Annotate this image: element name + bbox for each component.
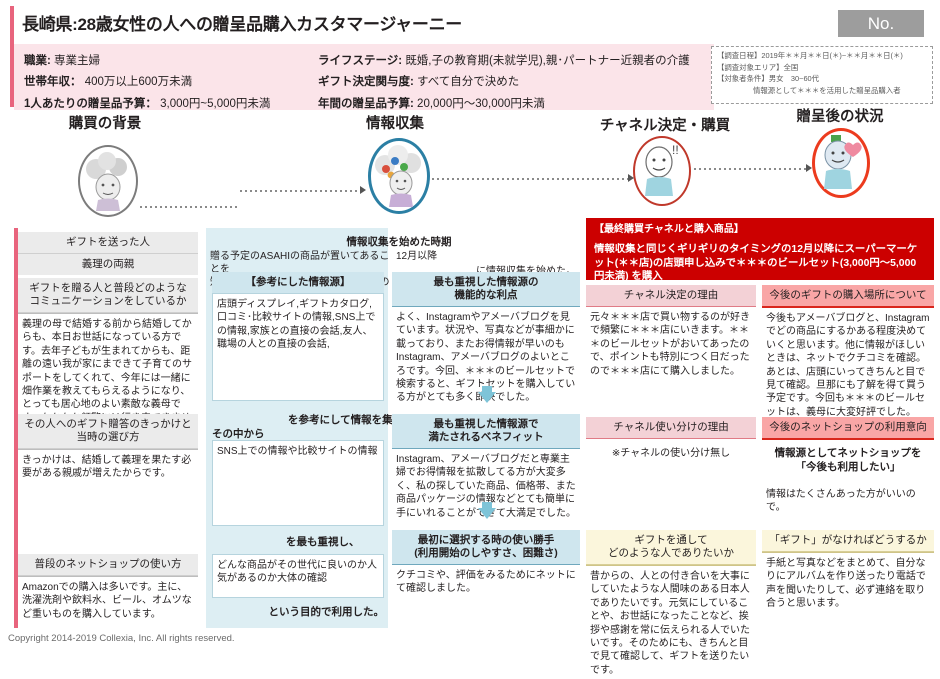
meta-income-label: 世帯年収： <box>24 76 82 88</box>
footer-copyright: Copyright 2014-2019 Collexia, Inc. All r… <box>8 633 235 644</box>
meta-income-value: 400万以上600万未満 <box>85 76 192 88</box>
channel-reason-header: チャネル決定の理由 <box>586 285 756 306</box>
flow-arrow-down-1 <box>478 392 496 403</box>
usability-header: 最初に選択する時の使い勝手 (利用開始のしやすさ、困難さ) <box>392 530 580 564</box>
channel-reason-body: 元々＊＊＊店で買い物するのが好きで頻繁に＊＊＊店にいきます。＊＊＊のビールセット… <box>586 306 756 380</box>
gift-persona-body: 昔からの、人との付き合いを大事にしていたような人間味のある日本人でありたいです。… <box>586 565 756 679</box>
no-gift-card: 「ギフト」がなければどうするか 手紙と写真などをまとめて、自分なりにアルバムを作… <box>762 530 934 613</box>
channel-usage-body: ※チャネルの使い分け無し <box>586 438 756 462</box>
person-thinking-icon <box>78 145 138 217</box>
collect-midfix: その中から <box>212 426 265 441</box>
meta-annual-budget-value: 20,000円～30,000円未満 <box>417 98 545 110</box>
header: 長崎県:28歳女性の人への贈呈品購入カスタマージャーニー No. 職業: 専業主… <box>0 6 940 107</box>
purpose-value: どんな商品がその世代に良いのか人気があるのか大体の確認 <box>212 554 384 598</box>
channel-usage-header: チャネル使い分けの理由 <box>586 417 756 438</box>
meta-involvement: ギフト決定関与度: すべて自分で決めた <box>318 73 519 89</box>
stage-label-research: 情報収集 <box>330 112 460 133</box>
final-purchase-title: 【最終購買チャネルと購入商品】 <box>594 223 926 236</box>
stage-label-after-gift: 贈呈後の状況 <box>775 105 905 126</box>
gift-persona-header: ギフトを通して どのような人でありたいか <box>586 530 756 565</box>
trigger-body: きっかけは、結婚して義理を果たす必要がある親戚が増えたからです。 <box>18 449 198 483</box>
meta-occupation: 職業: 専業主婦 <box>24 52 100 68</box>
netshop-usage-header: 普段のネットショップの使い方 <box>18 554 198 576</box>
trigger-header: その人へのギフト贈答のきっかけと 当時の選び方 <box>18 414 198 449</box>
journey-arrow-3 <box>806 164 812 172</box>
netshop-intent-body: 情報はたくさんあった方がいいので。 <box>762 476 934 517</box>
timing-value: 12月以降 <box>396 250 437 263</box>
emotional-benefit-header: 最も重視した情報源で 満たされるベネフィット <box>392 414 580 448</box>
netshop-intent-card: 今後のネットショップの利用意向 情報源としてネットショップを 「今後も利用したい… <box>762 417 934 517</box>
meta-lifestage-label: ライフステージ: <box>318 55 402 67</box>
meta-occupation-label: 職業: <box>24 55 51 67</box>
channel-usage-card: チャネル使い分けの理由 ※チャネルの使い分け無し <box>586 417 756 462</box>
recipient-value: 義理の両親 <box>18 254 198 275</box>
final-purchase-body: 情報収集と同じくギリギリのタイミングの12月以降にスーパーマーケット(＊＊店)の… <box>594 243 926 284</box>
info-sources-card: 【参考にした情報源】 店頭ディスプレイ,ギフトカタログ,口コミ･比較サイトの情報… <box>212 272 384 401</box>
survey-date: 【調査日程】2019年＊＊月＊＊日(＊)~＊＊月＊＊日(＊) <box>717 50 927 62</box>
svg-text:!!: !! <box>672 143 679 157</box>
customer-journey-page: 長崎県:28歳女性の人への贈呈品購入カスタマージャーニー No. 職業: 専業主… <box>0 0 940 651</box>
meta-budget-per-person-label: 1人あたりの贈呈品予算： <box>24 98 157 110</box>
meta-budget-per-person: 1人あたりの贈呈品予算： 3,000円~5,000円未満 <box>24 95 270 111</box>
timing-header: 情報収集を始めた時期 <box>314 234 484 249</box>
meta-occupation-value: 専業主婦 <box>54 55 100 67</box>
future-purchase-place-body: 今後もアメーバブログと、Instagramでどの商品にするかある程度決めていくと… <box>762 306 934 421</box>
recipient-card: ギフトを送った人 義理の両親 <box>18 232 198 275</box>
functional-benefit-header: 最も重視した情報源の 機能的な利点 <box>392 272 580 306</box>
future-purchase-place-header: 今後のギフトの購入場所について <box>762 285 934 306</box>
purpose-suffix: という目的で利用した。 <box>212 598 384 619</box>
future-purchase-place-card: 今後のギフトの購入場所について 今後もアメーバブログと、Instagramでどの… <box>762 285 934 421</box>
meta-annual-budget: 年間の贈呈品予算: 20,000円～30,000円未満 <box>318 95 545 111</box>
info-sources-header: 【参考にした情報源】 <box>212 272 384 293</box>
survey-info-box: 【調査日程】2019年＊＊月＊＊日(＊)~＊＊月＊＊日(＊) 【調査対象エリア】… <box>711 46 933 104</box>
journey-path-segment-1 <box>140 206 240 208</box>
page-title: 長崎県:28歳女性の人への贈呈品購入カスタマージャーニー <box>22 12 722 38</box>
collect-prefix: を参考にして情報を集め <box>288 412 403 427</box>
survey-area: 【調査対象エリア】全国 <box>717 62 927 74</box>
meta-lifestage: ライフステージ: 既婚,子の教育期(未就学児),親･パートナー近親者の介護 <box>318 52 690 68</box>
meta-involvement-label: ギフト決定関与度: <box>318 76 414 88</box>
usability-card: 最初に選択する時の使い勝手 (利用開始のしやすさ、困難さ) クチコミや、評価をみ… <box>392 530 580 598</box>
journey-arrow-2 <box>628 174 634 182</box>
person-decided-icon: !! <box>633 136 691 206</box>
communication-header: ギフトを贈る人と普段どのような コミュニケーションをしているか <box>18 278 198 313</box>
person-research-icon <box>368 138 430 214</box>
journey-arrow-1 <box>360 186 366 194</box>
journey-path-segment-3 <box>432 178 628 180</box>
recipient-header: ギフトを送った人 <box>18 232 198 254</box>
no-gift-header: 「ギフト」がなければどうするか <box>762 530 934 552</box>
meta-income: 世帯年収： 400万以上600万未満 <box>24 73 192 89</box>
channel-reason-card: チャネル決定の理由 元々＊＊＊店で買い物するのが好きで頻繁に＊＊＊店にいきます。… <box>586 285 756 380</box>
no-gift-body: 手紙と写真などをまとめて、自分なりにアルバムを作り送ったり電話で声を聞いたりして… <box>762 552 934 613</box>
purpose-card: どんな商品がその世代に良いのか人気があるのか大体の確認 という目的で利用した。 <box>212 554 384 619</box>
netshop-intent-value: 情報源としてネットショップを 「今後も利用したい」 <box>762 438 934 476</box>
gift-persona-card: ギフトを通して どのような人でありたいか 昔からの、人との付き合いを大事にしてい… <box>586 530 756 679</box>
netshop-intent-header: 今後のネットショップの利用意向 <box>762 417 934 438</box>
survey-condition: 【対象者条件】男女 30~60代 <box>717 73 927 85</box>
survey-condition-detail: 情報源として＊＊＊を活用した贈呈品購入者 <box>717 85 927 97</box>
page-title-row: 長崎県:28歳女性の人への贈呈品購入カスタマージャーニー <box>22 12 722 42</box>
usability-body: クチコミや、評価をみるためにネットにて確認しました。 <box>392 564 580 598</box>
selected-sources-value: SNS上での情報や比較サイトの情報 <box>212 440 384 526</box>
selected-sources-card: SNS上での情報や比較サイトの情報 <box>212 440 384 526</box>
meta-involvement-value: すべて自分で決めた <box>417 76 519 88</box>
meta-budget-per-person-value: 3,000円~5,000円未満 <box>160 98 270 110</box>
meta-annual-budget-label: 年間の贈呈品予算: <box>318 98 414 110</box>
final-purchase-banner: 【最終購買チャネルと購入商品】 情報収集と同じくギリギリのタイミングの12月以降… <box>586 218 934 280</box>
meta-lifestage-value: 既婚,子の教育期(未就学児),親･パートナー近親者の介護 <box>405 55 689 67</box>
journey-path-segment-2 <box>240 190 360 192</box>
info-sources-body: 店頭ディスプレイ,ギフトカタログ,口コミ･比較サイトの情報,SNS上での情報,家… <box>212 293 384 401</box>
most-valued-suffix: を最も重視し、 <box>286 534 360 549</box>
flow-arrow-down-2 <box>478 508 496 519</box>
no-badge: No. <box>838 10 924 37</box>
person-happy-icon <box>812 128 870 198</box>
stage-label-background: 購買の背景 <box>40 112 170 133</box>
trigger-card: その人へのギフト贈答のきっかけと 当時の選び方 きっかけは、結婚して義理を果たす… <box>18 414 198 483</box>
timing-block: 情報収集を始めた時期 贈る予定のASAHIの商品が置いてあることを 知っていたの… <box>210 234 580 270</box>
netshop-usage-card: 普段のネットショップの使い方 Amazonでの購入は多いです。主に、洗濯洗剤や飲… <box>18 554 198 623</box>
netshop-usage-body: Amazonでの購入は多いです。主に、洗濯洗剤や飲料水、ビール、オムツなど重いも… <box>18 576 198 623</box>
journey-path-segment-4 <box>694 168 806 170</box>
stage-label-channel-purchase: チャネル決定・購買 <box>590 114 740 135</box>
